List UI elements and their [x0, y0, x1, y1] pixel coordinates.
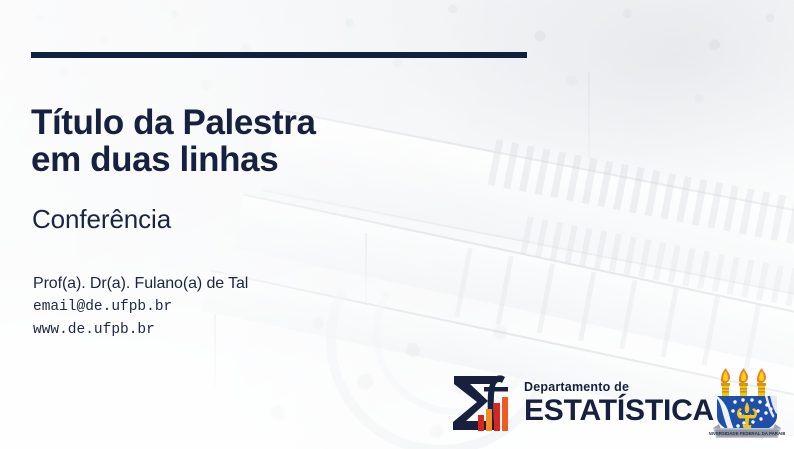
torch-center	[739, 368, 748, 396]
department-logo-small-text: Departamento de	[524, 381, 714, 394]
torch-right	[757, 368, 766, 396]
speaker-email: email@de.ufpb.br	[33, 296, 248, 319]
speaker-name: Prof(a). Dr(a). Fulano(a) de Tal	[33, 273, 248, 296]
presentation-slide: Título da Palestra em duas linhas Confer…	[0, 0, 794, 449]
crest-motto: UNIVERSIDADE FEDERAL DA PARAIBA	[709, 431, 785, 436]
department-logo-big-text: ESTATÍSTICA	[524, 396, 714, 426]
title-divider-rule	[31, 52, 527, 58]
page-title: Título da Palestra em duas linhas	[31, 104, 461, 178]
slide-subtitle: Conferência	[32, 204, 171, 235]
title-line-1: Título da Palestra	[31, 104, 461, 141]
ufpb-crest: UNIVERSIDADE FEDERAL DA PARAIBA	[709, 366, 785, 444]
title-line-2: em duas linhas	[31, 141, 461, 178]
department-website: www.de.ufpb.br	[33, 319, 248, 342]
department-logo: Departamento de ESTATÍSTICA	[448, 371, 698, 437]
torch-left	[721, 368, 730, 396]
contact-block: Prof(a). Dr(a). Fulano(a) de Tal email@d…	[33, 273, 248, 343]
department-logo-text: Departamento de ESTATÍSTICA	[524, 381, 714, 426]
sigma-integral-barchart-mark	[448, 371, 522, 435]
